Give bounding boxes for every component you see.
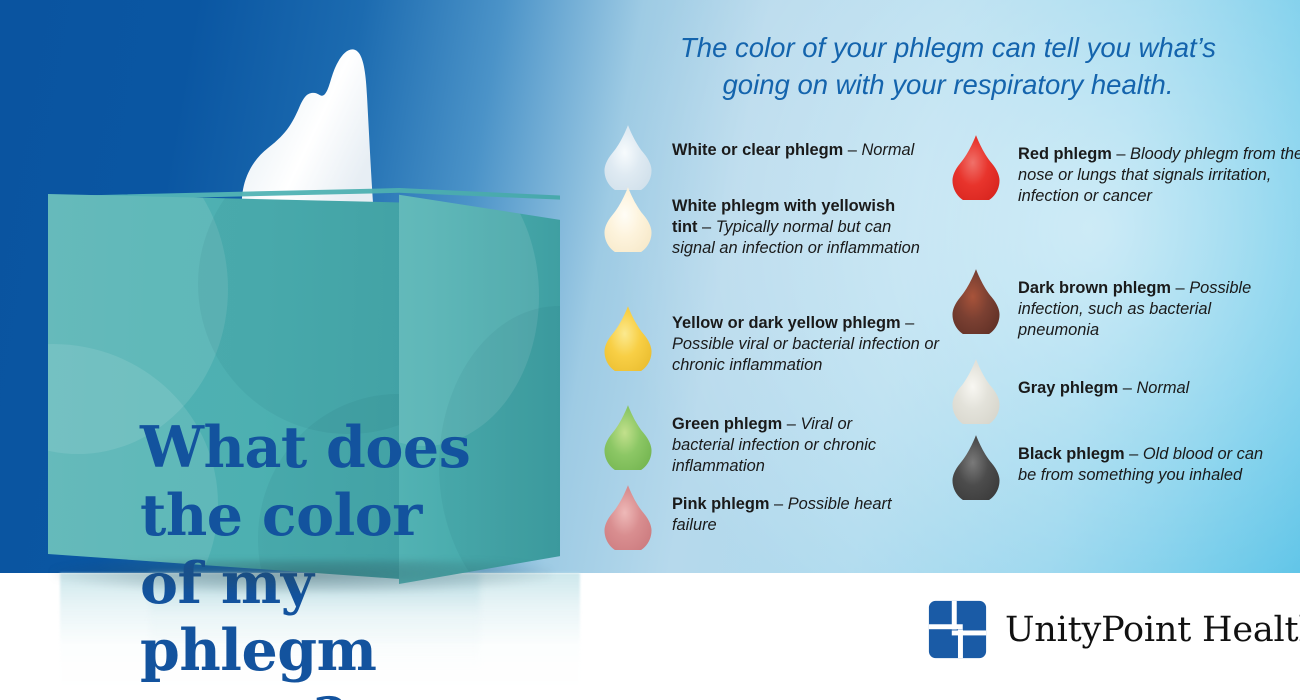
droplet-icon bbox=[600, 305, 662, 377]
list-item-label: Black phlegm bbox=[1018, 445, 1125, 463]
list-item-text: Dark brown phlegm – Possible infection, … bbox=[1018, 278, 1278, 341]
droplet-icon bbox=[600, 186, 662, 258]
droplet-icon bbox=[600, 404, 662, 476]
list-item-description: Possible viral or bacterial infection or… bbox=[672, 335, 939, 374]
list-item-text: Red phlegm – Bloody phlegm from the nose… bbox=[1018, 144, 1300, 207]
box-drop-shadow bbox=[52, 560, 552, 594]
list-item-text: White or clear phlegm – Normal bbox=[672, 140, 944, 161]
list-item-description: Normal bbox=[1136, 379, 1189, 397]
red-droplet bbox=[948, 134, 1004, 200]
cross-logo-icon bbox=[927, 599, 988, 660]
headline: The color of your phlegm can tell you wh… bbox=[612, 30, 1284, 103]
yellow-droplet bbox=[600, 305, 656, 371]
logo-wordmark: UnityPoint Health bbox=[1005, 610, 1300, 650]
list-item-label: Green phlegm bbox=[672, 415, 782, 433]
list-item-label: Gray phlegm bbox=[1018, 379, 1118, 397]
brand-logo[interactable]: UnityPoint Health bbox=[927, 599, 1300, 660]
pink-droplet bbox=[600, 484, 656, 550]
list-item-label: Dark brown phlegm bbox=[1018, 279, 1171, 297]
white-yellowish-droplet bbox=[600, 186, 656, 252]
green-droplet bbox=[600, 404, 656, 470]
page-title: What does the color of my phlegm mean? bbox=[140, 414, 480, 700]
list-item-description: Typically normal but can signal an infec… bbox=[672, 218, 920, 257]
droplet-icon bbox=[948, 358, 1010, 430]
list-item-text: Green phlegm – Viral or bacterial infect… bbox=[672, 414, 912, 477]
droplet-icon bbox=[600, 484, 662, 556]
dark-brown-droplet bbox=[948, 268, 1004, 334]
list-item-text: Pink phlegm – Possible heart failure bbox=[672, 494, 922, 536]
black-droplet bbox=[948, 434, 1004, 500]
tissue-box: What does the color of my phlegm mean? bbox=[48, 186, 560, 586]
list-item-text: Black phlegm – Old blood or can be from … bbox=[1018, 444, 1278, 486]
list-item-description: Normal bbox=[861, 141, 914, 159]
white-clear-droplet bbox=[600, 124, 656, 190]
list-item-text: Gray phlegm – Normal bbox=[1018, 378, 1258, 399]
list-item-label: Pink phlegm bbox=[672, 495, 769, 513]
gray-droplet bbox=[948, 358, 1004, 424]
list-item-label: White or clear phlegm bbox=[672, 141, 843, 159]
droplet-icon bbox=[948, 434, 1010, 506]
droplet-icon bbox=[948, 268, 1010, 340]
list-item-text: White phlegm with yellowish tint – Typic… bbox=[672, 196, 922, 259]
droplet-icon bbox=[948, 134, 1010, 206]
list-item-label: Red phlegm bbox=[1018, 145, 1112, 163]
infographic-canvas: What does the color of my phlegm mean? T… bbox=[0, 0, 1300, 700]
list-item-text: Yellow or dark yellow phlegm – Possible … bbox=[672, 313, 950, 376]
list-item-label: Yellow or dark yellow phlegm bbox=[672, 314, 901, 332]
